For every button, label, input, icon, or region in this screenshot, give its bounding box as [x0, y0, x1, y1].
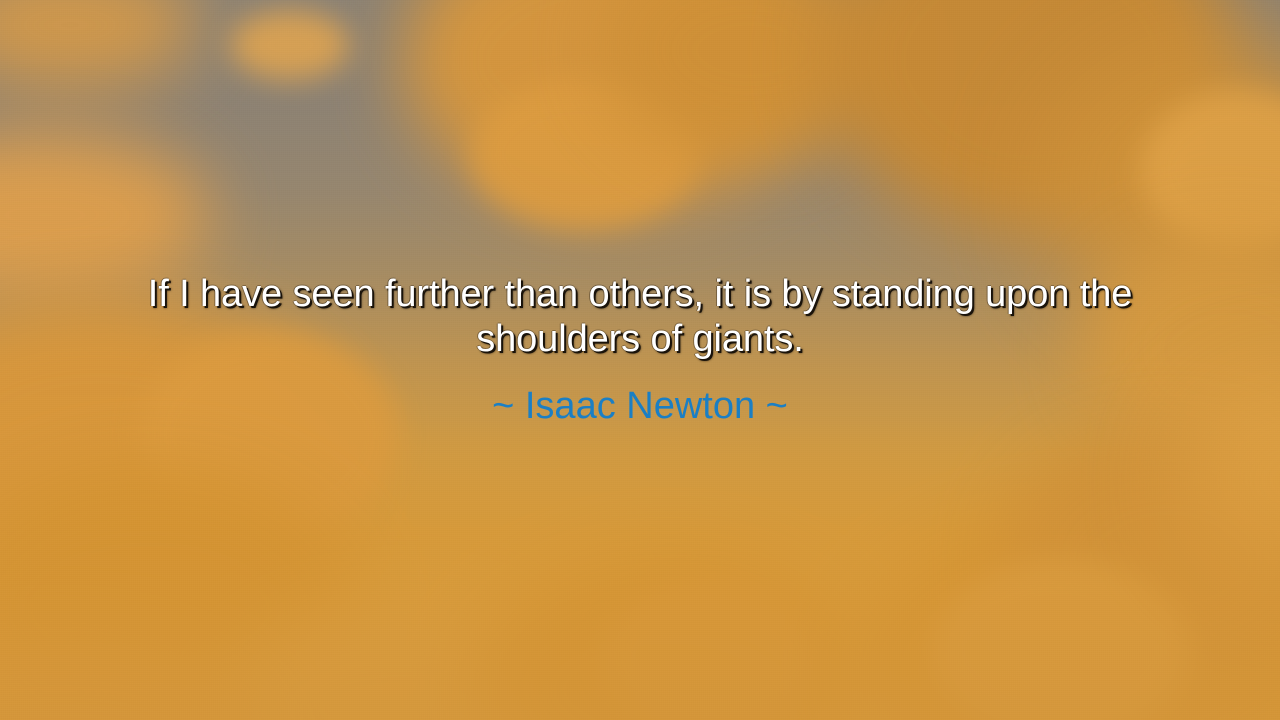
quote-block: If I have seen further than others, it i…	[105, 272, 1175, 428]
quote-slide: If I have seen further than others, it i…	[0, 0, 1280, 720]
text-layer: If I have seen further than others, it i…	[0, 0, 1280, 720]
quote-attribution: ~ Isaac Newton ~	[105, 384, 1175, 428]
quote-text: If I have seen further than others, it i…	[105, 272, 1175, 362]
